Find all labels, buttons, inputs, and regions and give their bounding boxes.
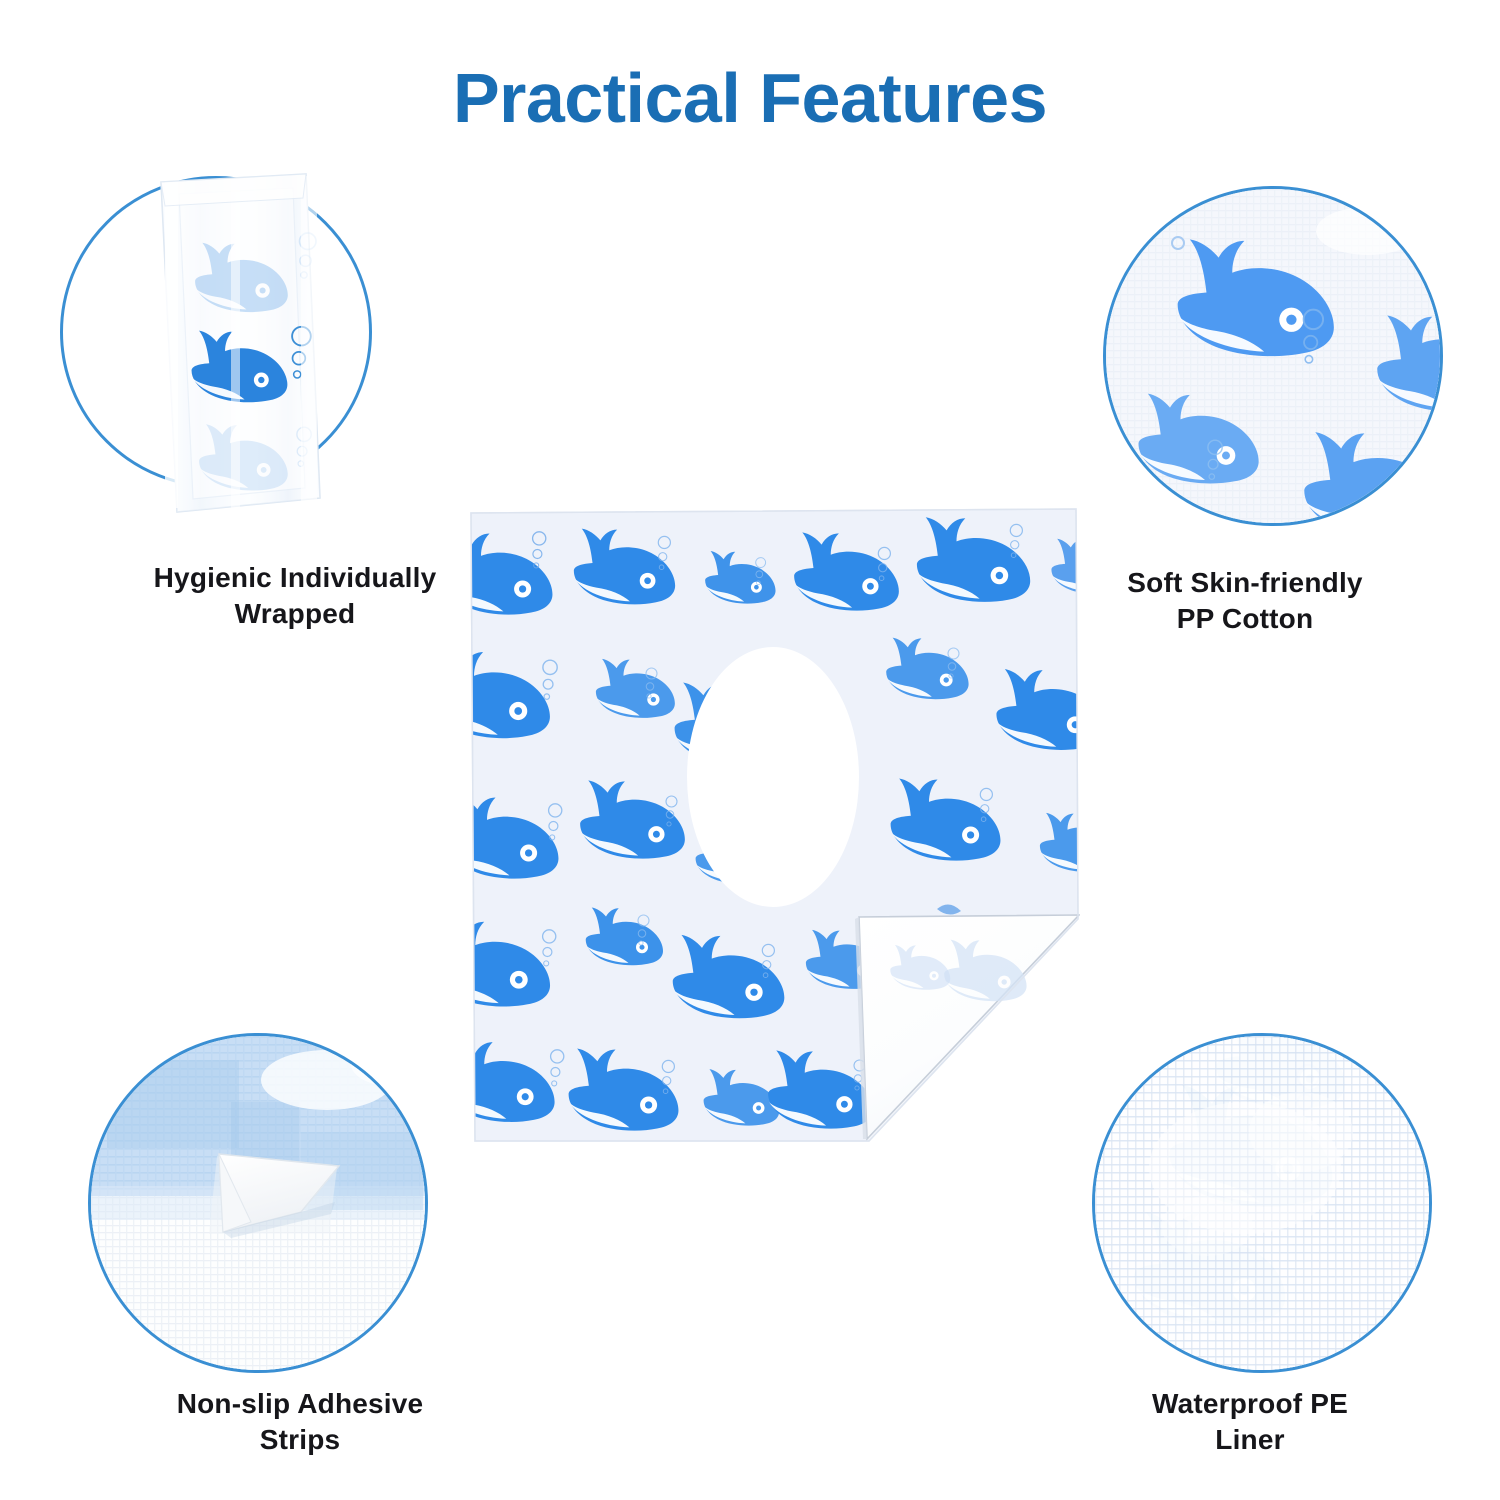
caption-line-2: Strips: [55, 1422, 545, 1458]
adhesive-strip-closeup-image: [91, 1036, 425, 1370]
packet-illustration: [135, 168, 330, 513]
folded-corner-flap: [855, 904, 1079, 1141]
caption-line-1: Soft Skin-friendly: [1025, 565, 1465, 601]
callout-circle-pp-cotton: [1103, 186, 1443, 526]
caption-line-1: Non-slip Adhesive: [55, 1386, 545, 1422]
callout-circle-adhesive: [88, 1033, 428, 1373]
pp-cotton-closeup-image: [1106, 189, 1440, 523]
caption-line-2: Liner: [1040, 1422, 1460, 1458]
infographic-canvas: Practical Features: [0, 0, 1500, 1500]
page-title: Practical Features: [0, 63, 1500, 133]
feature-caption-adhesive: Non-slip Adhesive Strips: [55, 1386, 545, 1458]
seat-opening-cutout: [687, 647, 859, 907]
caption-line-2: PP Cotton: [1025, 601, 1465, 637]
wrapped-packet-image: [135, 168, 330, 513]
feature-caption-pe-liner: Waterproof PE Liner: [1040, 1386, 1460, 1458]
callout-circle-pe-liner: [1092, 1033, 1432, 1373]
feature-caption-pp-cotton: Soft Skin-friendly PP Cotton: [1025, 565, 1465, 637]
caption-line-1: Waterproof PE: [1040, 1386, 1460, 1422]
seat-cover-illustration: [467, 505, 1080, 1143]
product-toilet-seat-cover-image: [467, 505, 1080, 1143]
pe-liner-closeup-image: [1095, 1036, 1429, 1370]
